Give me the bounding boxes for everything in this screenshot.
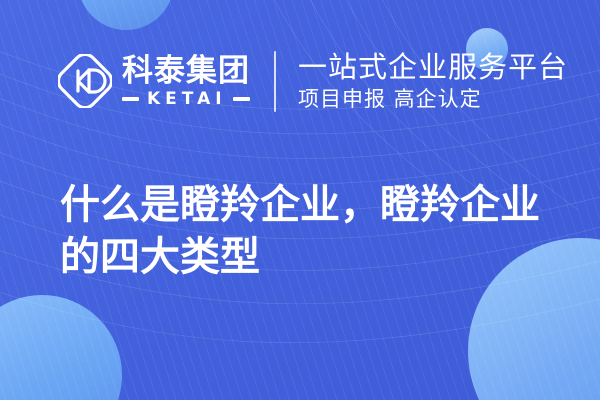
- brand-dash-right-icon: [233, 97, 250, 101]
- brand-wordmark: 科泰集团 KETAI: [122, 55, 250, 108]
- tagline-main: 一站式企业服务平台: [298, 51, 568, 84]
- article-title: 什么是瞪羚企业，瞪羚企业的四大类型: [60, 179, 560, 283]
- promo-banner: 科泰集团 KETAI 一站式企业服务平台 项目申报 高企认定 什么是瞪羚企业，瞪…: [0, 0, 600, 400]
- banner-header: 科泰集团 KETAI 一站式企业服务平台 项目申报 高企认定: [58, 46, 568, 116]
- decor-circle-bottom-left: [0, 295, 122, 400]
- brand-name-en: KETAI: [139, 90, 233, 108]
- ketai-kd-diamond-logo-icon: [58, 54, 112, 108]
- tagline-sub: 项目申报 高企认定: [298, 86, 568, 112]
- decor-circle-top-left: [78, 0, 174, 30]
- header-divider: [274, 51, 276, 112]
- brand-name-en-row: KETAI: [122, 90, 250, 108]
- brand-name-cn: 科泰集团: [122, 55, 250, 87]
- tagline-block: 一站式企业服务平台 项目申报 高企认定: [298, 51, 568, 112]
- brand-dash-left-icon: [122, 97, 139, 101]
- brand-logo[interactable]: 科泰集团 KETAI: [58, 54, 250, 108]
